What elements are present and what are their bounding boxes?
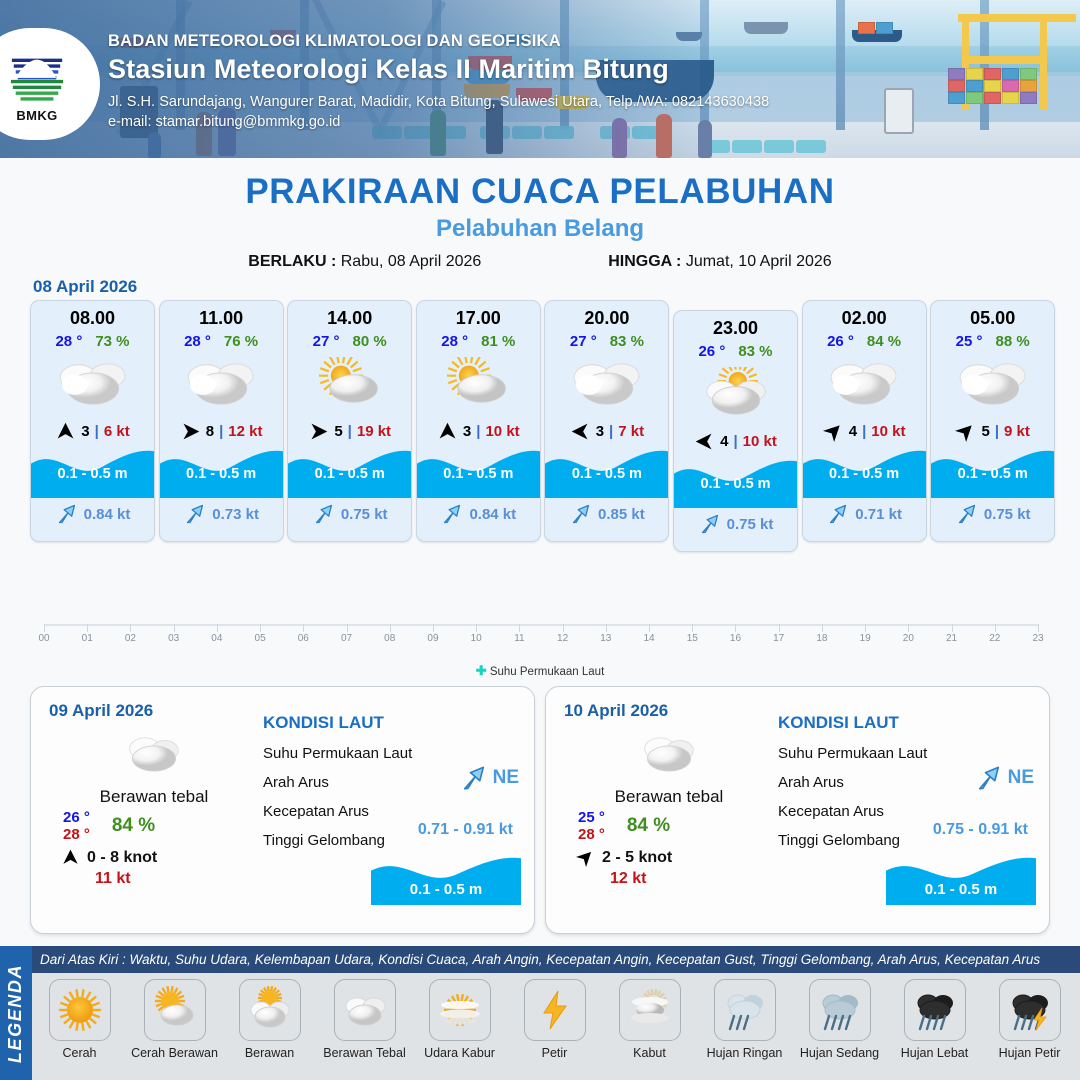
card-humidity: 76 % [224,333,258,350]
legend-item-label: Hujan Lebat [901,1046,968,1060]
card-wind-separator: | [862,423,866,440]
wind-direction-arrow-icon [951,416,981,446]
daily-left-block: 09 April 2026 Berawan tebal 26 ° 28 ° 84… [49,701,259,888]
card-current-row: 0.75 kt [288,498,411,530]
card-wind-separator: | [995,423,999,440]
container [948,92,965,104]
chart-tick [995,624,996,632]
daily-temps-row: 26 ° 28 ° 84 % [49,809,259,843]
chart-tick-label: 22 [989,633,1000,644]
current-direction-arrow-icon [569,502,593,526]
valid-from-label: BERLAKU : [248,253,336,270]
legend-item-label: Berawan Tebal [323,1046,405,1060]
cloudy-thick-icon [118,732,190,776]
card-wave-block: 0.1 - 0.5 m [160,446,283,498]
container [948,68,965,80]
info-kiosk [884,88,914,134]
chart-tick [952,624,953,632]
container [1002,68,1019,80]
page-header: BMKG BADAN METEOROLOGI KLIMATOLOGI DAN G… [0,0,1080,158]
card-wind-speed: 3 [596,423,604,440]
card-wave-block: 0.1 - 0.5 m [417,446,540,498]
legend-item-label: Berawan [245,1046,294,1060]
card-wind-row: 4 | 10 kt [803,419,926,443]
card-wave-height: 0.1 - 0.5 m [288,466,411,482]
card-current-speed: 0.84 kt [84,506,131,523]
card-time: 23.00 [674,318,797,339]
legend-items-row: Cerah Cerah Berawan Berawan Berawan Teba… [32,973,1080,1080]
current-direction-arrow-icon [974,763,1004,793]
crane-leg [1040,18,1047,110]
card-time: 20.00 [545,308,668,329]
card-wave-block: 0.1 - 0.5 m [674,456,797,508]
card-temperature: 25 ° [956,333,983,350]
current-direction-arrow-icon [312,502,336,526]
legend-icon-box [49,979,111,1041]
hourly-forecast-row: 08.00 28 ° 73 % 3 | 6 kt 0.1 - 0.5 m 0.8… [30,300,1052,552]
card-temperature: 28 ° [184,333,211,350]
legend-side-label: LEGENDA [6,963,27,1062]
card-temperature: 27 ° [313,333,340,350]
card-gust: 10 kt [743,433,777,450]
chart-axis-line [44,624,1038,626]
legend-item: Kabut [602,979,697,1060]
card-current-row: 0.75 kt [931,498,1054,530]
legend-item: Hujan Sedang [792,979,887,1060]
card-time: 05.00 [931,308,1054,329]
card-wind-separator: | [219,423,223,440]
hourly-forecast-card: 02.00 26 ° 84 % 4 | 10 kt 0.1 - 0.5 m 0.… [802,300,927,542]
chart-tick-label: 18 [816,633,827,644]
sea-row-current-speed: Kecepatan Arus [263,803,521,820]
agency-name: BADAN METEOROLOGI KLIMATOLOGI DAN GEOFIS… [108,32,769,51]
card-temperature: 28 ° [441,333,468,350]
daily-current-direction: NE [459,763,519,793]
header-text-block: BADAN METEOROLOGI KLIMATOLOGI DAN GEOFIS… [108,32,769,130]
current-direction-arrow-icon [698,512,722,536]
card-wind-row: 5 | 19 kt [288,419,411,443]
card-wind-speed: 4 [720,433,728,450]
lightning-bolt-icon [531,986,579,1034]
daily-condition: Berawan tebal [49,787,259,807]
card-time: 11.00 [160,308,283,329]
card-weather-icon [803,353,926,413]
card-current-row: 0.75 kt [674,508,797,540]
chart-tick [692,624,693,632]
container [966,68,983,80]
legend-item-label: Udara Kabur [424,1046,495,1060]
container [984,92,1001,104]
chart-tick-label: 00 [38,633,49,644]
legend-icon-box [239,979,301,1041]
daily-temps-row: 25 ° 28 ° 84 % [564,809,774,843]
chart-legend: ✚ Suhu Permukaan Laut [0,663,1080,679]
chart-tick-label: 08 [384,633,395,644]
daily-temp-max: 28 ° [63,826,90,843]
legend-item-label: Cerah [62,1046,96,1060]
terminal-seat [732,140,762,153]
card-gust: 12 kt [228,423,262,440]
sea-row-sst: Suhu Permukaan Laut [778,745,1036,762]
legend-side-bar: LEGENDA [0,946,32,1080]
chart-tick [649,624,650,632]
legend-item-label: Petir [542,1046,568,1060]
station-address: Jl. S.H. Sarundajang, Wangurer Barat, Ma… [108,94,769,110]
daily-panel: 09 April 2026 Berawan tebal 26 ° 28 ° 84… [30,686,535,934]
legend-icon-box [809,979,871,1041]
card-current-speed: 0.75 kt [984,506,1031,523]
card-wind-speed: 5 [981,423,989,440]
chart-tick [433,624,434,632]
daily-wave-block: 0.1 - 0.5 m [371,853,521,911]
card-wave-height: 0.1 - 0.5 m [803,466,926,482]
chart-tick [563,624,564,632]
daily-condition: Berawan tebal [564,787,774,807]
card-wind-row: 3 | 7 kt [545,419,668,443]
sun-icon [56,986,104,1034]
card-gust: 7 kt [618,423,644,440]
card-humidity: 83 % [738,343,772,360]
legend-item-label: Kabut [633,1046,666,1060]
chart-tick-label: 10 [471,633,482,644]
card-wave-height: 0.1 - 0.5 m [931,466,1054,482]
sst-legend-label: Suhu Permukaan Laut [490,666,604,678]
chart-tick-label: 05 [255,633,266,644]
validity-row: BERLAKU : Rabu, 08 April 2026 HINGGA : J… [0,253,1080,271]
card-wind-separator: | [733,433,737,450]
card-gust: 10 kt [485,423,519,440]
daily-gust: 11 kt [49,870,259,888]
card-wind-speed: 8 [206,423,214,440]
legend-item-label: Hujan Sedang [800,1046,879,1060]
container [1002,80,1019,92]
sun-cloud-icon [151,986,199,1034]
sea-row-current-speed: Kecepatan Arus [778,803,1036,820]
chart-tick-label: 11 [514,633,524,644]
card-gust: 19 kt [357,423,391,440]
card-wind-row: 5 | 9 kt [931,419,1054,443]
daily-humidity: 84 % [112,815,155,837]
legend-item: Hujan Petir [982,979,1077,1060]
sea-conditions-title: KONDISI LAUT [263,713,521,733]
container [984,80,1001,92]
card-wave-block: 0.1 - 0.5 m [931,446,1054,498]
bmkg-logo-text: BMKG [16,108,57,123]
valid-until-label: HINGGA : [608,253,681,270]
chart-tick-label: 17 [773,633,784,644]
daily-temp-min: 26 ° [63,809,90,826]
wind-direction-arrow-icon [572,844,599,871]
clouds-icon [341,986,389,1034]
legend-icon-box [429,979,491,1041]
cloud-sun-small-icon [246,986,294,1034]
legend-item: Berawan [222,979,317,1060]
card-current-row: 0.84 kt [31,498,154,530]
card-current-speed: 0.75 kt [341,506,388,523]
sea-row-sst: Suhu Permukaan Laut [263,745,521,762]
card-weather-icon [31,353,154,413]
card-wave-height: 0.1 - 0.5 m [674,476,797,492]
page-title: PRAKIRAAN CUACA PELABUHAN [0,172,1080,212]
chart-tick [519,624,520,632]
card-wave-block: 0.1 - 0.5 m [803,446,926,498]
card-wind-separator: | [95,423,99,440]
daily-wind-row: 0 - 8 knot [49,848,259,867]
card-wind-row: 3 | 10 kt [417,419,540,443]
card-humidity: 73 % [95,333,129,350]
chart-tick-label: 16 [730,633,741,644]
card-gust: 6 kt [104,423,130,440]
chart-tick-label: 12 [557,633,568,644]
card-weather-icon [674,363,797,423]
container [966,92,983,104]
card-current-speed: 0.71 kt [855,506,902,523]
card-humidity: 84 % [867,333,901,350]
daily-humidity: 84 % [627,815,670,837]
chart-tick-label: 01 [82,633,93,644]
cloudy-thick-icon [633,732,705,776]
card-wave-height: 0.1 - 0.5 m [417,466,540,482]
chart-tick-label: 23 [1032,633,1043,644]
legend-icon-box [714,979,776,1041]
daily-weather-icon [49,725,259,783]
current-direction-arrow-icon [826,502,850,526]
hourly-forecast-card: 08.00 28 ° 73 % 3 | 6 kt 0.1 - 0.5 m 0.8… [30,300,155,542]
station-email: e-mail: stamar.bitung@bmmkg.go.id [108,114,769,130]
legend-item: Cerah [32,979,127,1060]
chart-tick [908,624,909,632]
daily-sea-block: KONDISI LAUT Suhu Permukaan Laut Arah Ar… [778,713,1036,849]
chart-tick-label: 21 [946,633,957,644]
current-direction-arrow-icon [955,502,979,526]
legend-item: Udara Kabur [412,979,507,1060]
container [966,80,983,92]
bmkg-emblem-icon [8,45,66,107]
station-name: Stasiun Meteorologi Kelas II Maritim Bit… [108,54,769,85]
sea-conditions-title: KONDISI LAUT [778,713,1036,733]
card-humidity: 81 % [481,333,515,350]
legend-item: Hujan Ringan [697,979,792,1060]
legend-item: Hujan Lebat [887,979,982,1060]
daily-date: 09 April 2026 [49,701,259,721]
container [984,68,1001,80]
card-time: 14.00 [288,308,411,329]
card-weather-icon [545,353,668,413]
card-wind-row: 3 | 6 kt [31,419,154,443]
hourly-forecast-card: 05.00 25 ° 88 % 5 | 9 kt 0.1 - 0.5 m 0.7… [930,300,1055,542]
card-wind-speed: 5 [334,423,342,440]
chart-tick [174,624,175,632]
chart-tick [735,624,736,632]
wind-direction-arrow-icon [818,416,848,446]
card-wave-height: 0.1 - 0.5 m [31,466,154,482]
current-direction-arrow-icon [440,502,464,526]
chart-tick-label: 09 [427,633,438,644]
daily-current-speed: 0.75 - 0.91 kt [933,821,1028,839]
chart-tick [606,624,607,632]
hourly-date-label: 08 April 2026 [33,277,137,297]
card-temperature: 26 ° [698,343,725,360]
cloudy-icon [565,357,649,409]
chart-tick [779,624,780,632]
daily-current-direction: NE [974,763,1034,793]
chart-tick-label: 04 [211,633,222,644]
container [1020,68,1037,80]
daily-wave-block: 0.1 - 0.5 m [886,853,1036,911]
legend-item: Berawan Tebal [317,979,412,1060]
partly-cloudy-icon [308,357,392,409]
wind-direction-arrow-icon [694,431,715,452]
chart-tick-label: 02 [125,633,136,644]
chart-tick [87,624,88,632]
container [1002,92,1019,104]
legend-icon-box [334,979,396,1041]
card-wind-row: 4 | 10 kt [674,429,797,453]
daily-gust: 12 kt [564,870,774,888]
card-temperature: 28 ° [55,333,82,350]
cloudy-icon [951,357,1035,409]
card-humidity: 83 % [610,333,644,350]
card-temperature: 26 ° [827,333,854,350]
chart-tick-label: 20 [903,633,914,644]
container [1020,80,1037,92]
chart-tick-label: 19 [860,633,871,644]
cloudy-icon [51,357,135,409]
chart-tick [260,624,261,632]
card-weather-icon [417,353,540,413]
hourly-forecast-card: 14.00 27 ° 80 % 5 | 19 kt 0.1 - 0.5 m 0.… [287,300,412,542]
current-direction-arrow-icon [55,502,79,526]
valid-until-value: Jumat, 10 April 2026 [686,253,832,270]
crane-beam [958,14,1076,22]
rain-heavy-icon [911,986,959,1034]
legend-item: Petir [507,979,602,1060]
legend-icon-box [904,979,966,1041]
partly-cloudy-cloud-icon [694,367,778,419]
container [1020,92,1037,104]
card-current-row: 0.71 kt [803,498,926,530]
chart-tick-label: 14 [643,633,654,644]
cloudy-icon [822,357,906,409]
wind-direction-arrow-icon [180,421,201,442]
card-time: 17.00 [417,308,540,329]
card-wind-separator: | [609,423,613,440]
card-wind-speed: 3 [463,423,471,440]
legend-note: Dari Atas Kiri : Waktu, Suhu Udara, Kele… [40,952,1075,967]
chart-tick [303,624,304,632]
rain-thunder-icon [1006,986,1054,1034]
current-direction-arrow-icon [459,763,489,793]
card-wind-speed: 4 [849,423,857,440]
card-current-speed: 0.73 kt [212,506,259,523]
legend-icon-box [144,979,206,1041]
legend-icon-box [524,979,586,1041]
legend-section: LEGENDA Dari Atas Kiri : Waktu, Suhu Uda… [0,946,1080,1080]
wind-direction-arrow-icon [61,848,80,867]
chart-tick-label: 15 [687,633,698,644]
card-wave-block: 0.1 - 0.5 m [31,446,154,498]
daily-wind-range: 2 - 5 knot [602,849,672,867]
legend-icon-box [619,979,681,1041]
hourly-forecast-card: 20.00 27 ° 83 % 3 | 7 kt 0.1 - 0.5 m 0.8… [544,300,669,542]
chart-tick-label: 13 [600,633,611,644]
chart-tick [476,624,477,632]
partly-cloudy-icon [436,357,520,409]
chart-tick [1038,624,1039,632]
legend-icon-box [999,979,1061,1041]
card-current-row: 0.84 kt [417,498,540,530]
chart-tick [865,624,866,632]
legend-item-label: Hujan Ringan [707,1046,783,1060]
legend-item-label: Hujan Petir [999,1046,1061,1060]
daily-weather-icon [564,725,774,783]
legend-item: Cerah Berawan [127,979,222,1060]
chart-tick [130,624,131,632]
card-current-row: 0.85 kt [545,498,668,530]
card-time: 08.00 [31,308,154,329]
legend-item-label: Cerah Berawan [131,1046,218,1060]
card-current-row: 0.73 kt [160,498,283,530]
wind-direction-arrow-icon [308,421,329,442]
daily-wave-height: 0.1 - 0.5 m [371,881,521,898]
haze-icon [436,986,484,1034]
chart-tick-label: 06 [298,633,309,644]
page-subtitle: Pelabuhan Belang [0,215,1080,243]
chart-tick [44,624,45,632]
rain-light-icon [721,986,769,1034]
card-wave-block: 0.1 - 0.5 m [288,446,411,498]
card-humidity: 88 % [996,333,1030,350]
card-wind-separator: | [348,423,352,440]
card-gust: 10 kt [871,423,905,440]
card-weather-icon [160,353,283,413]
container [876,22,893,34]
daily-date: 10 April 2026 [564,701,774,721]
card-wind-speed: 3 [81,423,89,440]
daily-current-speed: 0.71 - 0.91 kt [418,821,513,839]
hourly-forecast-card: 11.00 28 ° 76 % 8 | 12 kt 0.1 - 0.5 m 0.… [159,300,284,542]
chart-tick-label: 07 [341,633,352,644]
card-wind-separator: | [476,423,480,440]
cloudy-icon [179,357,263,409]
chart-tick [822,624,823,632]
wind-direction-arrow-icon [570,421,591,442]
daily-temp-min: 25 ° [578,809,605,826]
hourly-forecast-card: 17.00 28 ° 81 % 3 | 10 kt 0.1 - 0.5 m 0.… [416,300,541,542]
chart-tick-label: 03 [168,633,179,644]
container [858,22,875,34]
card-weather-icon [288,353,411,413]
chart-tick [390,624,391,632]
card-gust: 9 kt [1004,423,1030,440]
wind-direction-arrow-icon [55,421,76,442]
daily-left-block: 10 April 2026 Berawan tebal 25 ° 28 ° 84… [564,701,774,888]
card-wave-height: 0.1 - 0.5 m [160,466,283,482]
fog-icon [626,986,674,1034]
card-time: 02.00 [803,308,926,329]
daily-current-dir-label: NE [1008,767,1034,789]
card-temperature: 27 ° [570,333,597,350]
window-mullion [836,0,845,130]
chart-tick [217,624,218,632]
rain-moderate-icon [816,986,864,1034]
hourly-forecast-card: 23.00 26 ° 83 % 4 | 10 kt 0.1 - 0.5 m 0.… [673,310,798,552]
daily-panel: 10 April 2026 Berawan tebal 25 ° 28 ° 84… [545,686,1050,934]
daily-wind-range: 0 - 8 knot [87,849,157,867]
card-wind-row: 8 | 12 kt [160,419,283,443]
daily-sea-block: KONDISI LAUT Suhu Permukaan Laut Arah Ar… [263,713,521,849]
daily-temp-max: 28 ° [578,826,605,843]
